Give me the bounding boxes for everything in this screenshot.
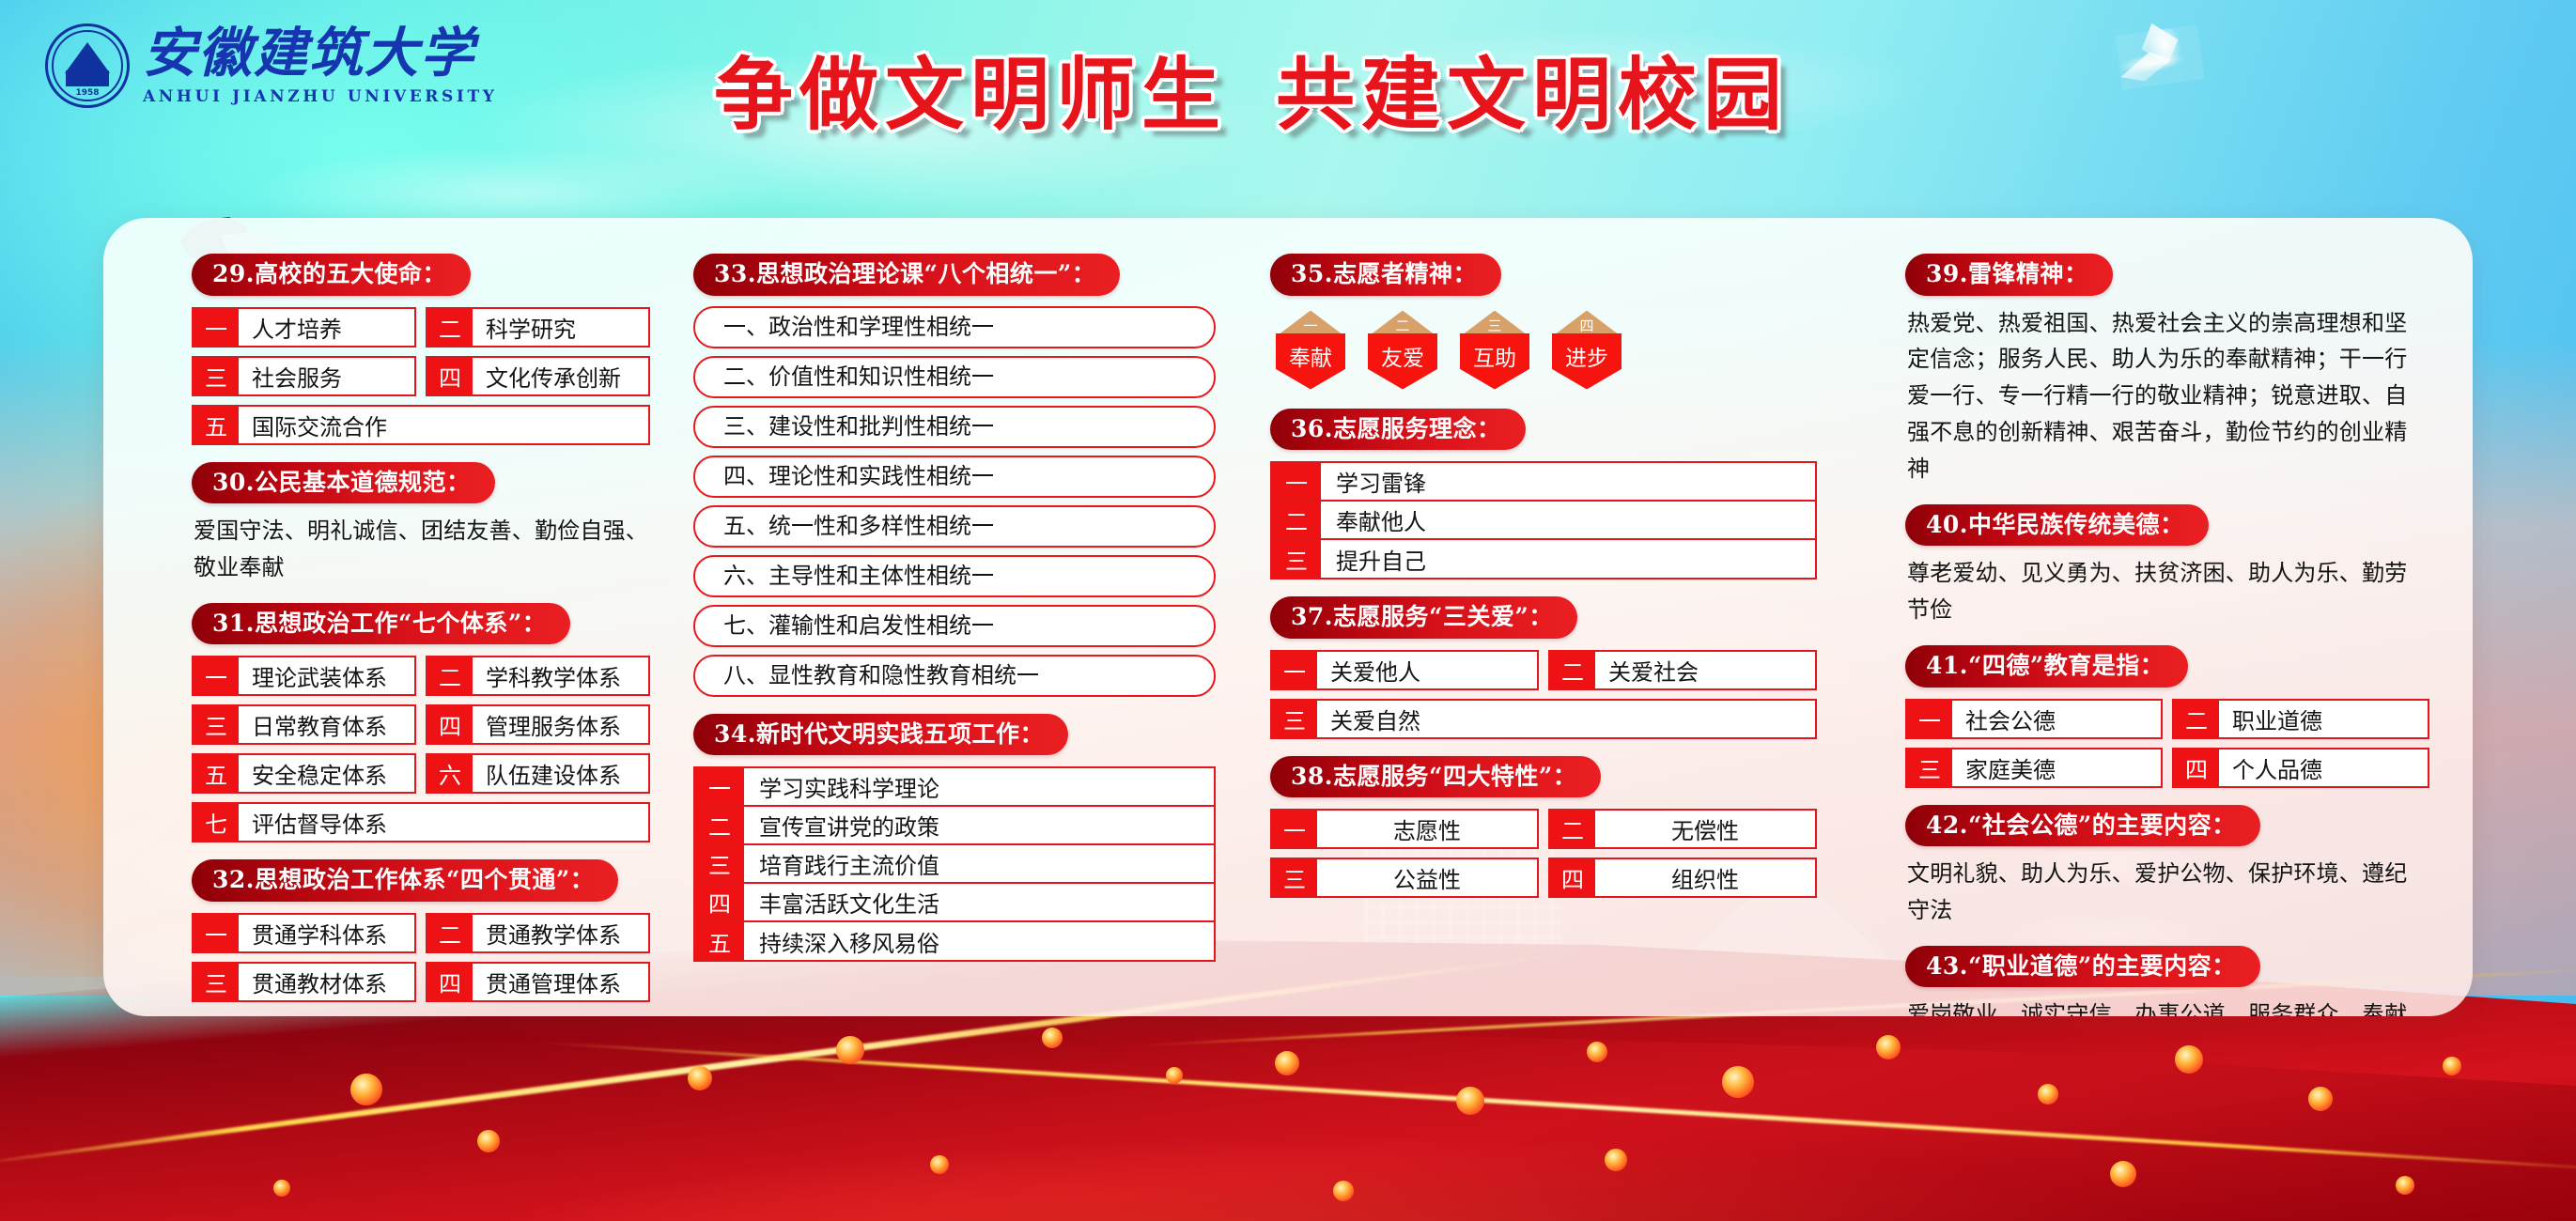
content-panel: 29.高校的五大使命：一人才培养二科学研究三社会服务四文化传承创新五国际交流合作… (103, 218, 2473, 1016)
grid-cell[interactable]: 二无偿性 (1548, 809, 1817, 849)
hex-badge[interactable]: 二友爱 (1368, 311, 1437, 390)
cell-number: 四 (427, 358, 473, 394)
glow-dot-icon (2110, 1161, 2136, 1187)
cell-label: 公益性 (1317, 859, 1537, 896)
cell-label: 人才培养 (239, 309, 414, 346)
glow-dot-icon (1605, 1149, 1627, 1171)
grid-cell[interactable]: 三家庭美德 (1905, 748, 2163, 788)
cell-number: 一 (1272, 652, 1317, 688)
seal-year: 1958 (45, 88, 130, 98)
row-label: 提升自己 (1321, 540, 1815, 578)
glow-dot-icon (1042, 1028, 1063, 1048)
row-number: 一 (695, 768, 744, 805)
column-1: 29.高校的五大使命：一人才培养二科学研究三社会服务四文化传承创新五国际交流合作… (128, 240, 673, 1016)
university-name-en: ANHUI JIANZHU UNIVERSITY (143, 87, 497, 106)
cell-label: 职业道德 (2219, 701, 2428, 737)
cell-label: 组织性 (1595, 859, 1815, 896)
grid-cell[interactable]: 三贯通教材体系 (192, 962, 416, 1002)
section-heading-31: 31.思想政治工作“七个体系”： (192, 603, 570, 645)
section-heading-32: 32.思想政治工作体系“四个贯通”： (192, 859, 618, 902)
section-heading-29: 29.高校的五大使命： (192, 254, 471, 296)
row-number: 二 (1272, 502, 1321, 538)
grid-cell[interactable]: 二贯通教学体系 (426, 913, 650, 953)
section-heading-38: 38.志愿服务“四大特性”： (1270, 756, 1601, 798)
title-part-2: 共建文明校园 (1276, 49, 1789, 141)
section-heading-43: 43.“职业道德”的主要内容： (1905, 946, 2260, 988)
cell-number: 一 (1907, 701, 1952, 737)
list-item[interactable]: 八、显性教育和隐性教育相统一 (693, 655, 1216, 697)
cell-number: 二 (1550, 811, 1595, 847)
grid-cell[interactable]: 四个人品德 (2172, 748, 2429, 788)
university-seal-icon: 1958 (45, 23, 130, 108)
list-item[interactable]: 六、主导性和主体性相统一 (693, 555, 1216, 597)
row-number: 二 (695, 807, 744, 843)
grid-cell[interactable]: 二科学研究 (426, 307, 650, 348)
section-paragraph-39: 热爱党、热爱祖国、热爱社会主义的崇高理想和坚定信念；服务人民、助人为乐的奉献精神… (1907, 305, 2428, 487)
cell-number: 三 (1272, 859, 1317, 896)
cell-label: 社会公德 (1952, 701, 2161, 737)
section-stack-34: 一学习实践科学理论二宣传宣讲党的政策三培育践行主流价值四丰富活跃文化生活五持续深… (693, 766, 1216, 962)
row-label: 学习雷锋 (1321, 463, 1815, 500)
hex-badge[interactable]: 三互助 (1460, 311, 1529, 390)
cell-label: 家庭美德 (1952, 750, 2161, 786)
grid-cell[interactable]: 一理论武装体系 (192, 656, 416, 696)
row-label: 学习实践科学理论 (744, 768, 1214, 805)
hex-number: 一 (1276, 316, 1345, 335)
glow-dot-icon (836, 1036, 864, 1064)
columns-container: 29.高校的五大使命：一人才培养二科学研究三社会服务四文化传承创新五国际交流合作… (128, 240, 2448, 1016)
cell-number: 一 (194, 657, 239, 694)
cell-number: 三 (1272, 701, 1317, 737)
column-2: 33.思想政治理论课“八个相统一”：一、政治性和学理性相统一二、价值性和知识性相… (673, 240, 1236, 1016)
glow-dot-icon (477, 1130, 500, 1152)
cell-number: 二 (2174, 701, 2219, 737)
section-gap (1905, 792, 2429, 805)
cell-number: 五 (194, 407, 239, 443)
section-hexrow-35: 一奉献二友爱三互助四进步 (1276, 311, 1817, 390)
glow-dot-icon (1587, 1042, 1607, 1062)
cell-number: 六 (427, 755, 473, 792)
glow-dot-icon (1876, 1035, 1901, 1059)
glow-dot-icon (350, 1074, 382, 1105)
table-row[interactable]: 三培育践行主流价值 (695, 845, 1214, 884)
list-item[interactable]: 三、建设性和批判性相统一 (693, 406, 1216, 448)
section-heading-42: 42.“社会公德”的主要内容： (1905, 805, 2260, 847)
grid-cell[interactable]: 五国际交流合作 (192, 405, 650, 445)
section-gap (1905, 933, 2429, 946)
grid-cell[interactable]: 三公益性 (1270, 858, 1539, 898)
row-number: 一 (1272, 463, 1321, 500)
list-item[interactable]: 四、理论性和实践性相统一 (693, 456, 1216, 498)
cell-label: 管理服务体系 (473, 706, 648, 743)
section-grid-37: 一关爱他人二关爱社会三关爱自然 (1270, 650, 1817, 739)
row-number: 三 (1272, 540, 1321, 578)
list-item[interactable]: 七、灌输性和启发性相统一 (693, 605, 1216, 647)
white-dove-icon (2115, 24, 2204, 90)
column-4: 39.雷锋精神：热爱党、热爱祖国、热爱社会主义的崇高理想和坚定信念；服务人民、助… (1838, 240, 2439, 1016)
grid-cell[interactable]: 一关爱他人 (1270, 650, 1539, 690)
hex-badge[interactable]: 四进步 (1552, 311, 1622, 390)
section-gap (192, 846, 650, 859)
glow-dot-icon (1456, 1087, 1484, 1115)
glow-dot-icon (2308, 1087, 2333, 1111)
section-paragraph-40: 尊老爱幼、见义勇为、扶贫济困、助人为乐、勤劳节俭 (1907, 555, 2428, 628)
university-logo: 1958 安徽建筑大学 ANHUI JIANZHU UNIVERSITY (45, 23, 497, 108)
section-heading-41: 41.“四德”教育是指： (1905, 645, 2188, 688)
cell-number: 四 (427, 706, 473, 743)
grid-cell[interactable]: 四文化传承创新 (426, 356, 650, 396)
section-stack-36: 一学习雷锋二奉献他人三提升自己 (1270, 461, 1817, 580)
grid-cell[interactable]: 二学科教学体系 (426, 656, 650, 696)
glow-dot-icon (1166, 1067, 1183, 1084)
grid-cell[interactable]: 四管理服务体系 (426, 704, 650, 745)
grid-cell[interactable]: 一志愿性 (1270, 809, 1539, 849)
cell-label: 日常教育体系 (239, 706, 414, 743)
list-item[interactable]: 五、统一性和多样性相统一 (693, 505, 1216, 548)
hex-label: 友爱 (1368, 333, 1437, 390)
table-row[interactable]: 二奉献他人 (1272, 502, 1815, 540)
cell-number: 二 (427, 657, 473, 694)
cell-label: 学科教学体系 (473, 657, 648, 694)
section-grid-32: 一贯通学科体系二贯通教学体系三贯通教材体系四贯通管理体系 (192, 913, 650, 1002)
table-row[interactable]: 一学习实践科学理论 (695, 768, 1214, 807)
row-number: 五 (695, 922, 744, 960)
table-row[interactable]: 二宣传宣讲党的政策 (695, 807, 1214, 845)
section-gap (693, 701, 1216, 714)
cell-number: 三 (194, 964, 239, 1000)
glow-dot-icon (2038, 1084, 2058, 1105)
cell-label: 社会服务 (239, 358, 414, 394)
section-gap (192, 449, 650, 462)
cell-number: 一 (194, 309, 239, 346)
hex-label: 奉献 (1276, 333, 1345, 390)
grid-cell[interactable]: 四组织性 (1548, 858, 1817, 898)
cell-number: 二 (427, 915, 473, 951)
page-title: 争做文明师生共建文明校园 (714, 32, 2048, 146)
section-heading-35: 35.志愿者精神： (1270, 254, 1501, 296)
grid-cell[interactable]: 三日常教育体系 (192, 704, 416, 745)
cell-label: 安全稳定体系 (239, 755, 414, 792)
section-pills-33: 一、政治性和学理性相统一二、价值性和知识性相统一三、建设性和批判性相统一四、理论… (693, 306, 1216, 697)
grid-cell[interactable]: 二关爱社会 (1548, 650, 1817, 690)
section-gap (1270, 743, 1817, 756)
cell-number: 三 (194, 358, 239, 394)
glow-dot-icon (2443, 1057, 2461, 1075)
section-gap (192, 1006, 650, 1016)
section-heading-39: 39.雷锋精神： (1905, 254, 2113, 296)
cell-label: 个人品德 (2219, 750, 2428, 786)
cell-label: 理论武装体系 (239, 657, 414, 694)
column-3: 35.志愿者精神：一奉献二友爱三互助四进步36.志愿服务理念：一学习雷锋二奉献他… (1236, 240, 1838, 1016)
row-label: 持续深入移风易俗 (744, 922, 1214, 960)
cell-label: 关爱自然 (1317, 701, 1815, 737)
row-number: 三 (695, 845, 744, 882)
section-heading-37: 37.志愿服务“三关爱”： (1270, 596, 1577, 639)
cell-label: 文化传承创新 (473, 358, 648, 394)
grid-cell[interactable]: 七评估督导体系 (192, 802, 650, 842)
grid-cell[interactable]: 一人才培养 (192, 307, 416, 348)
cell-label: 队伍建设体系 (473, 755, 648, 792)
hex-number: 二 (1368, 316, 1437, 335)
cell-number: 四 (427, 964, 473, 1000)
cell-label: 关爱他人 (1317, 652, 1537, 688)
title-part-1: 争做文明师生 (714, 49, 1227, 141)
table-row[interactable]: 四丰富活跃文化生活 (695, 884, 1214, 922)
section-gap (693, 966, 1216, 979)
row-number: 四 (695, 884, 744, 920)
section-heading-30: 30.公民基本道德规范： (192, 462, 495, 504)
cell-number: 七 (194, 804, 239, 841)
glow-dot-icon (1333, 1181, 1354, 1201)
section-grid-31: 一理论武装体系二学科教学体系三日常教育体系四管理服务体系五安全稳定体系六队伍建设… (192, 656, 650, 842)
hex-number: 三 (1460, 316, 1529, 335)
grid-cell[interactable]: 三关爱自然 (1270, 699, 1817, 739)
section-heading-33: 33.思想政治理论课“八个相统一”： (693, 254, 1120, 296)
cell-label: 关爱社会 (1595, 652, 1815, 688)
table-row[interactable]: 三提升自己 (1272, 540, 1815, 578)
cell-label: 评估督导体系 (239, 804, 648, 841)
grid-cell[interactable]: 一贯通学科体系 (192, 913, 416, 953)
glow-dot-icon (1275, 1051, 1299, 1075)
section-grid-29: 一人才培养二科学研究三社会服务四文化传承创新五国际交流合作 (192, 307, 650, 445)
grid-cell[interactable]: 一社会公德 (1905, 699, 2163, 739)
glow-dot-icon (688, 1066, 712, 1090)
hex-badge[interactable]: 一奉献 (1276, 311, 1345, 390)
university-name-cn: 安徽建筑大学 (143, 26, 497, 80)
grid-cell[interactable]: 二职业道德 (2172, 699, 2429, 739)
section-heading-40: 40.中华民族传统美德： (1905, 504, 2209, 547)
cell-label: 贯通教学体系 (473, 915, 648, 951)
cell-label: 无偿性 (1595, 811, 1815, 847)
cell-number: 五 (194, 755, 239, 792)
section-grid-38: 一志愿性二无偿性三公益性四组织性 (1270, 809, 1817, 898)
row-label: 奉献他人 (1321, 502, 1815, 538)
glow-dot-icon (2396, 1176, 2414, 1195)
grid-cell[interactable]: 六队伍建设体系 (426, 753, 650, 794)
glow-dot-icon (930, 1155, 949, 1174)
hex-label: 互助 (1460, 333, 1529, 390)
list-item[interactable]: 一、政治性和学理性相统一 (693, 306, 1216, 348)
section-gap (1905, 491, 2429, 504)
grid-cell[interactable]: 四贯通管理体系 (426, 962, 650, 1002)
row-label: 宣传宣讲党的政策 (744, 807, 1214, 843)
glow-dot-icon (2175, 1045, 2203, 1074)
section-gap (192, 590, 650, 603)
cell-number: 四 (2174, 750, 2219, 786)
cell-label: 志愿性 (1317, 811, 1537, 847)
cell-number: 三 (1907, 750, 1952, 786)
section-paragraph-43: 爱岗敬业、诚实守信、办事公道、服务群众、奉献社会 (1907, 997, 2428, 1016)
cell-number: 二 (1550, 652, 1595, 688)
grid-cell[interactable]: 五安全稳定体系 (192, 753, 416, 794)
section-gap (1270, 583, 1817, 596)
cell-number: 二 (427, 309, 473, 346)
cell-number: 一 (194, 915, 239, 951)
cell-label: 贯通教材体系 (239, 964, 414, 1000)
cell-number: 三 (194, 706, 239, 743)
section-paragraph-42: 文明礼貌、助人为乐、爱护公物、保护环境、遵纪守法 (1907, 856, 2428, 929)
hex-label: 进步 (1552, 333, 1622, 390)
cell-label: 贯通学科体系 (239, 915, 414, 951)
cell-label: 国际交流合作 (239, 407, 648, 443)
section-gap (1905, 632, 2429, 645)
list-item[interactable]: 二、价值性和知识性相统一 (693, 356, 1216, 398)
cell-number: 四 (1550, 859, 1595, 896)
section-heading-36: 36.志愿服务理念： (1270, 409, 1526, 451)
row-label: 丰富活跃文化生活 (744, 884, 1214, 920)
glow-dot-icon (273, 1180, 290, 1197)
cell-number: 一 (1272, 811, 1317, 847)
section-gap (1270, 395, 1817, 409)
cell-label: 科学研究 (473, 309, 648, 346)
section-heading-34: 34.新时代文明实践五项工作： (693, 714, 1068, 756)
section-gap (1270, 902, 1817, 915)
section-grid-41: 一社会公德二职业道德三家庭美德四个人品德 (1905, 699, 2429, 788)
table-row[interactable]: 五持续深入移风易俗 (695, 922, 1214, 960)
table-row[interactable]: 一学习雷锋 (1272, 463, 1815, 502)
cell-label: 贯通管理体系 (473, 964, 648, 1000)
section-paragraph-30: 爱国守法、明礼诚信、团结友善、勤俭自强、敬业奉献 (194, 513, 648, 586)
hex-number: 四 (1552, 316, 1622, 335)
row-label: 培育践行主流价值 (744, 845, 1214, 882)
glow-dot-icon (1722, 1066, 1754, 1098)
grid-cell[interactable]: 三社会服务 (192, 356, 416, 396)
